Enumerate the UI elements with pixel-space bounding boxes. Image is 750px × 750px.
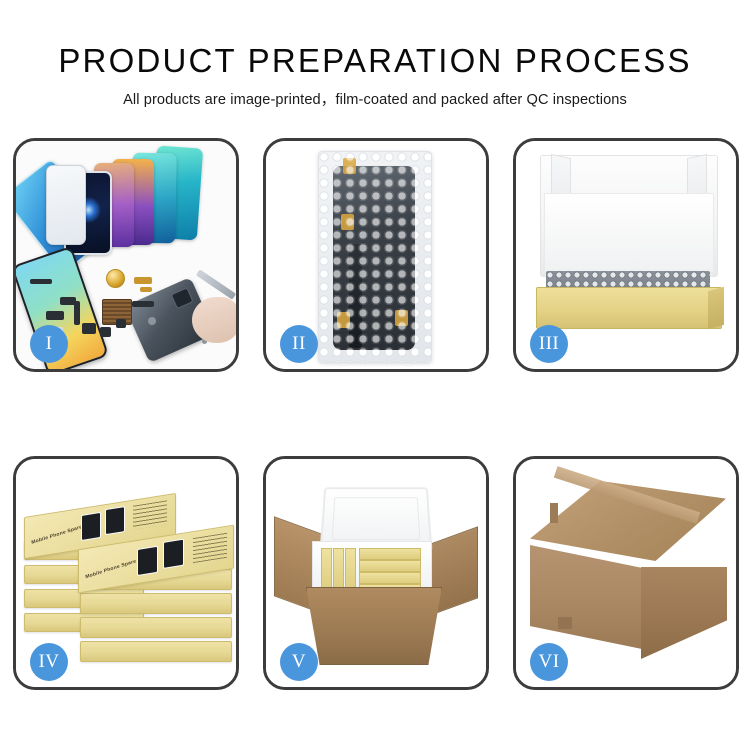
yellow-box-item [333,548,344,592]
kraft-box-tray-icon [536,287,722,329]
header: PRODUCT PREPARATION PROCESS All products… [0,0,750,109]
screen-flex-cable-icon [349,244,362,348]
carton-front-face-icon [530,545,642,649]
step-badge-2: II [280,325,318,363]
spare-part-icon [100,327,111,337]
infographic-root: PRODUCT PREPARATION PROCESS All products… [0,0,750,750]
tape-icon [395,310,408,326]
box-phone-image [81,512,101,541]
process-step-panel-2[interactable]: II [263,138,489,372]
tape-icon [337,312,350,328]
stacked-box [80,593,232,614]
spare-part-icon [46,311,64,320]
tape-icon [341,214,354,230]
tape-icon [343,158,356,174]
white-phone-screen-icon [46,165,86,245]
step-badge-1: I [30,325,68,363]
process-step-panel-4[interactable]: Mobile Phone Spare Parts Mobile Phone Sp… [13,456,239,690]
carton-seam-icon [550,503,558,523]
yellow-box-item [321,548,332,592]
process-step-panel-1[interactable]: I [13,138,239,372]
flex-cable-icon [140,287,152,292]
hand-icon [192,297,236,343]
yellow-box-item [359,548,421,560]
yellow-box-item [359,572,421,584]
box-phone-image [105,506,125,535]
copper-coil-icon [106,269,125,288]
stacked-box [80,641,232,662]
spare-part-icon [82,323,96,334]
yellow-box-item [359,560,421,572]
step-badge-3: III [530,325,568,363]
box-phone-image [163,539,184,569]
tweezers-icon [196,269,236,299]
step-badge-6: VI [530,643,568,681]
kraft-box-side-icon [708,287,724,330]
box-phone-image [137,546,158,576]
page-subtitle: All products are image-printed，film-coat… [0,79,750,109]
stacked-box [80,617,232,638]
step-badge-4: IV [30,643,68,681]
yellow-box-item [345,548,356,592]
screw-icon [148,317,156,325]
carton-seam-icon [558,617,572,629]
bubble-wrap-bag-icon [318,151,432,363]
page-title: PRODUCT PREPARATION PROCESS [0,0,750,79]
step-badge-5: V [280,643,318,681]
spare-part-icon [116,319,126,328]
process-step-panel-3[interactable]: III [513,138,739,372]
spare-part-icon [132,301,154,307]
process-step-panel-5[interactable]: V [263,456,489,690]
flex-cable-icon [134,277,152,284]
process-step-grid: I II [13,138,739,690]
carton-body-icon [306,587,442,665]
box-stack: Mobile Phone Spare Parts Mobile Phone Sp… [22,481,236,671]
process-step-panel-6[interactable]: VI [513,456,739,690]
spare-part-icon [30,279,52,284]
foam-sheet-icon [544,193,714,273]
spare-part-icon [60,297,76,305]
carton-side-face-icon [641,567,727,659]
